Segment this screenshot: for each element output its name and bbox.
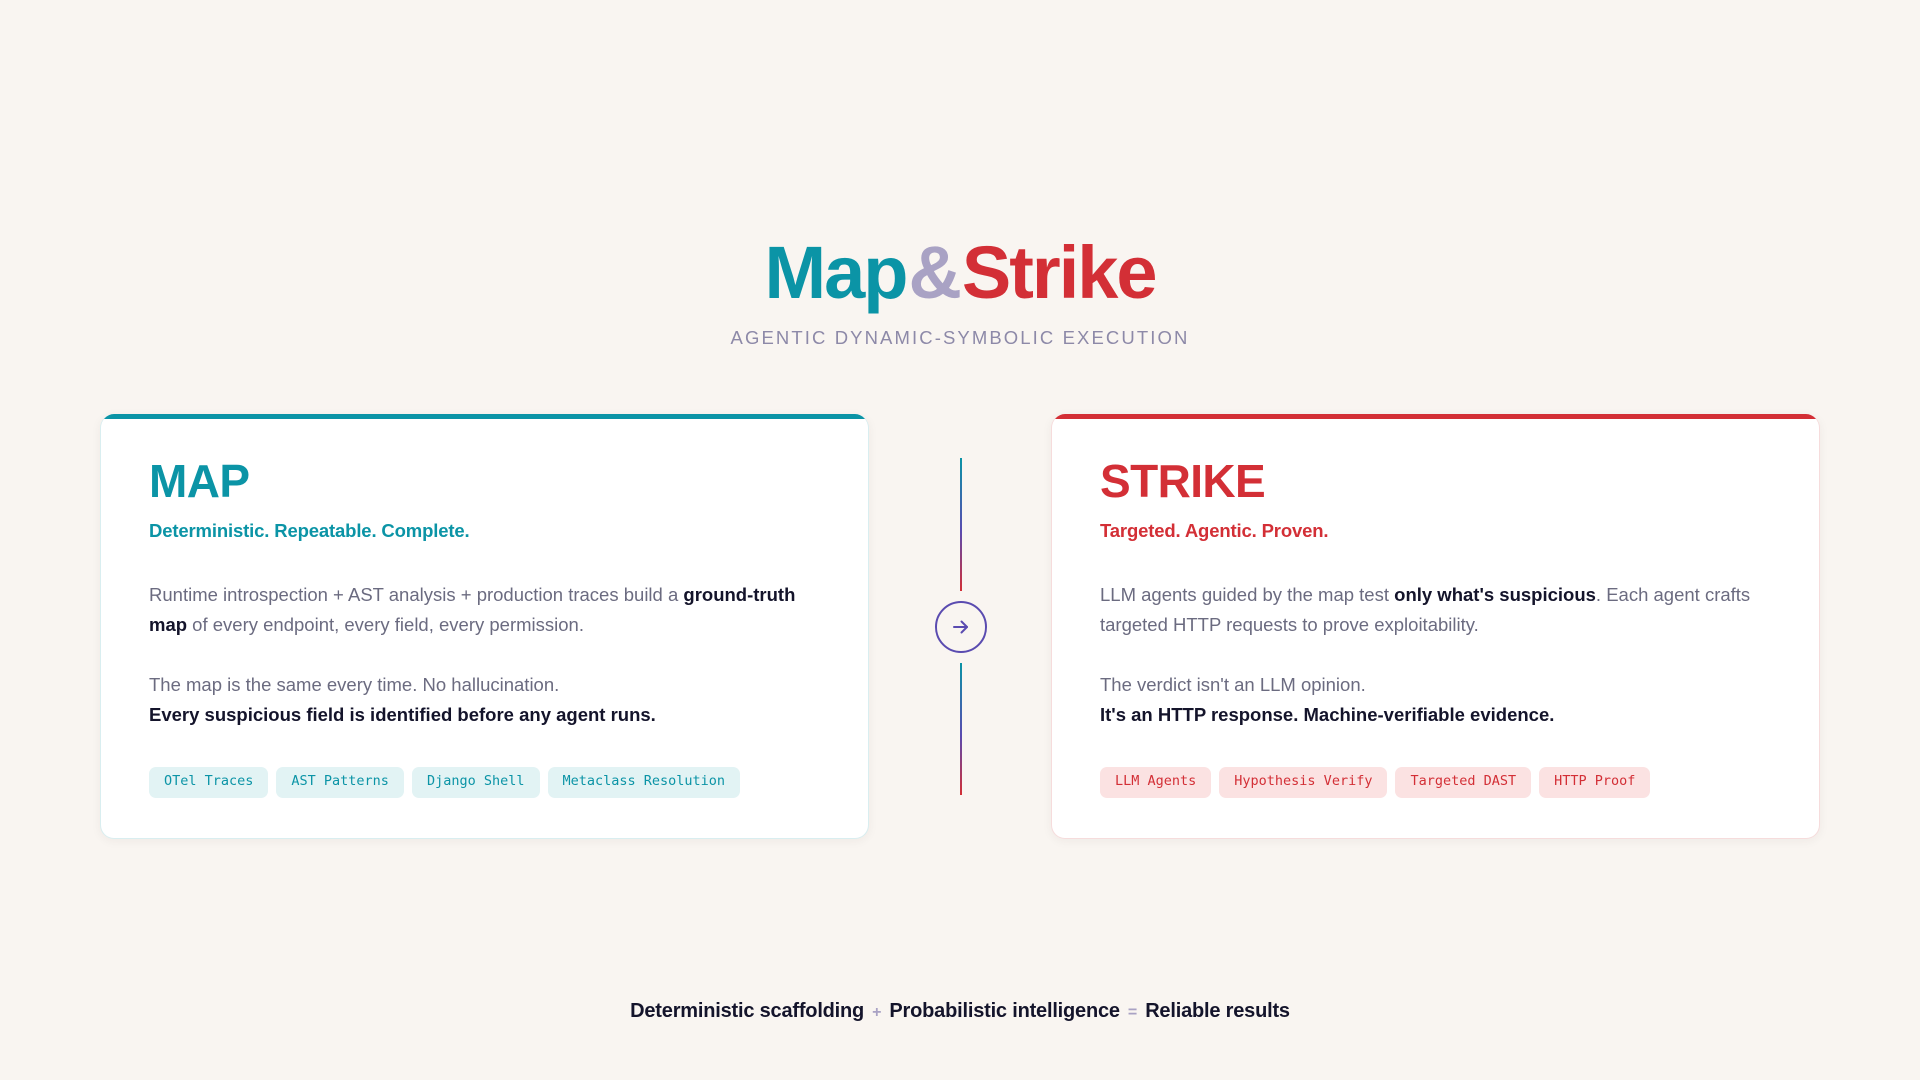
map-card: MAP Deterministic. Repeatable. Complete.… xyxy=(100,414,869,839)
footer-part-3: Reliable results xyxy=(1145,1000,1290,1022)
strike-tag[interactable]: Hypothesis Verify xyxy=(1219,767,1387,798)
connector-line-bottom xyxy=(960,663,962,796)
connector-line-top xyxy=(960,458,962,591)
strike-card-tagline: Targeted. Agentic. Proven. xyxy=(1100,520,1771,542)
brand-subtitle: AGENTIC DYNAMIC-SYMBOLIC EXECUTION xyxy=(0,327,1920,349)
strike-card-accent-bar xyxy=(1052,414,1819,419)
map-card-heading: MAP xyxy=(149,458,820,504)
connector-arrow-button[interactable] xyxy=(935,601,987,653)
strike-para1-bold: only what's suspicious xyxy=(1394,584,1596,605)
brand-title-strike: Strike xyxy=(962,231,1156,314)
page-root: Map&Strike AGENTIC DYNAMIC-SYMBOLIC EXEC… xyxy=(0,0,1920,1080)
map-tag[interactable]: AST Patterns xyxy=(276,767,404,798)
map-tag[interactable]: Django Shell xyxy=(412,767,540,798)
flow-connector xyxy=(933,414,989,839)
map-card-paragraph-2: The map is the same every time. No hallu… xyxy=(149,670,820,730)
strike-card-paragraph-2: The verdict isn't an LLM opinion.It's an… xyxy=(1100,670,1771,730)
map-card-tags: OTel Traces AST Patterns Django Shell Me… xyxy=(149,767,820,798)
map-card-accent-bar xyxy=(101,414,868,419)
strike-card-heading: STRIKE xyxy=(1100,458,1771,504)
strike-card-paragraph-1: LLM agents guided by the map test only w… xyxy=(1100,580,1771,640)
strike-tag[interactable]: HTTP Proof xyxy=(1539,767,1650,798)
strike-para1-text-before: LLM agents guided by the map test xyxy=(1100,584,1394,605)
footer-operator-plus: + xyxy=(864,1004,889,1021)
map-para1-text-before: Runtime introspection + AST analysis + p… xyxy=(149,584,683,605)
brand-title-ampersand: & xyxy=(906,231,961,314)
footer-operator-equals: = xyxy=(1120,1004,1145,1021)
strike-card: STRIKE Targeted. Agentic. Proven. LLM ag… xyxy=(1051,414,1820,839)
footer-part-1: Deterministic scaffolding xyxy=(630,1000,864,1022)
brand-title: Map&Strike xyxy=(0,236,1920,310)
strike-tag[interactable]: LLM Agents xyxy=(1100,767,1211,798)
strike-para2-line1: The verdict isn't an LLM opinion. xyxy=(1100,674,1366,695)
footer-part-2: Probabilistic intelligence xyxy=(889,1000,1119,1022)
map-para2-line2: Every suspicious field is identified bef… xyxy=(149,700,820,730)
map-card-tagline: Deterministic. Repeatable. Complete. xyxy=(149,520,820,542)
map-card-paragraph-1: Runtime introspection + AST analysis + p… xyxy=(149,580,820,640)
strike-tag[interactable]: Targeted DAST xyxy=(1395,767,1531,798)
map-tag[interactable]: OTel Traces xyxy=(149,767,268,798)
brand-title-map: Map xyxy=(764,231,906,314)
brand-header: Map&Strike AGENTIC DYNAMIC-SYMBOLIC EXEC… xyxy=(0,236,1920,349)
strike-card-tags: LLM Agents Hypothesis Verify Targeted DA… xyxy=(1100,767,1771,798)
map-para2-line1: The map is the same every time. No hallu… xyxy=(149,674,559,695)
strike-para2-line2: It's an HTTP response. Machine-verifiabl… xyxy=(1100,700,1771,730)
footer-tagline: Deterministic scaffolding+Probabilistic … xyxy=(0,1000,1920,1023)
map-tag[interactable]: Metaclass Resolution xyxy=(548,767,741,798)
arrow-right-icon xyxy=(949,615,973,639)
map-card-body: MAP Deterministic. Repeatable. Complete.… xyxy=(101,414,868,798)
map-para1-text-after: of every endpoint, every field, every pe… xyxy=(187,614,584,635)
strike-card-body: STRIKE Targeted. Agentic. Proven. LLM ag… xyxy=(1052,414,1819,798)
